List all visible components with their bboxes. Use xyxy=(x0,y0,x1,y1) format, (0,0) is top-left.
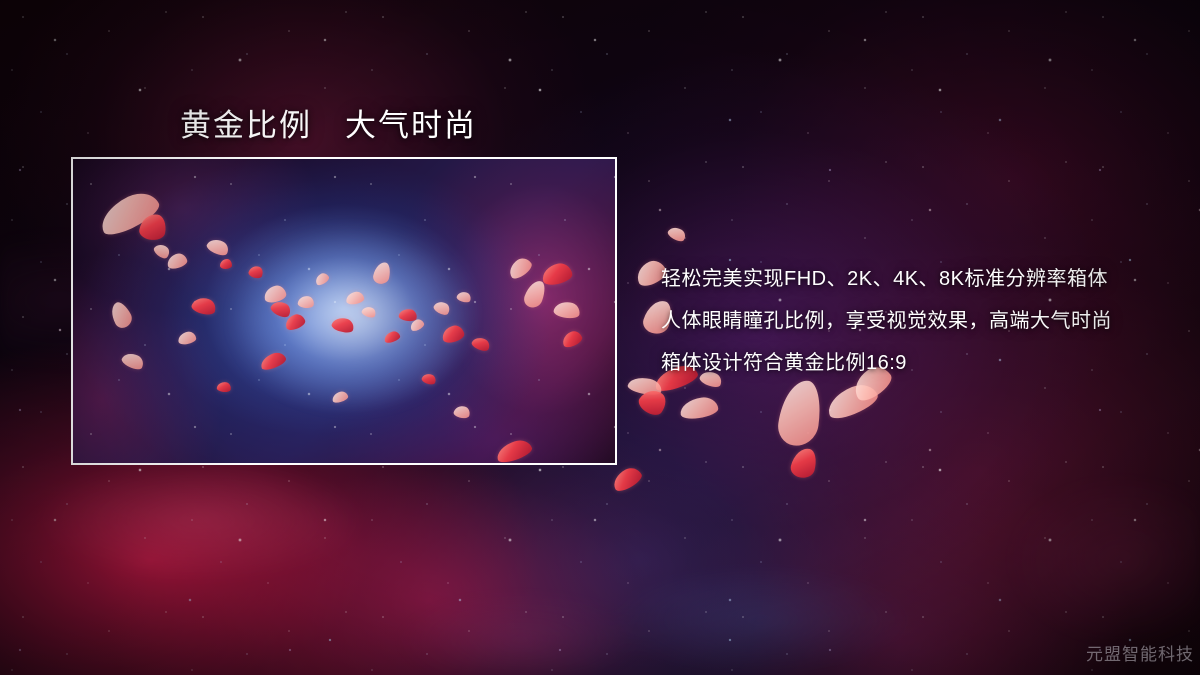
slide-title: 黄金比例 大气时尚 xyxy=(180,100,477,145)
preview-core-glow xyxy=(233,229,473,409)
flower-petal xyxy=(789,446,820,481)
preview-image-frame xyxy=(71,157,617,465)
flower-petal xyxy=(776,378,825,449)
flower-petal xyxy=(610,464,645,494)
flower-petal xyxy=(666,224,688,243)
preview-image xyxy=(73,159,615,463)
feature-description: 轻松完美实现FHD、2K、4K、8K标准分辨率箱体 人体眼睛瞳孔比例，享受视觉效… xyxy=(661,258,1181,384)
feature-line-1: 轻松完美实现FHD、2K、4K、8K标准分辨率箱体 xyxy=(661,258,1181,300)
presentation-slide: 黄金比例 大气时尚 轻松完美实现FHD、2K、4K、8K标准分辨率箱体 人体眼睛… xyxy=(0,0,1200,675)
flower-petal xyxy=(220,259,232,269)
feature-line-3: 箱体设计符合黄金比例16:9 xyxy=(661,342,1181,384)
feature-line-2: 人体眼睛瞳孔比例，享受视觉效果，高端大气时尚 xyxy=(661,300,1181,342)
flower-petal xyxy=(679,395,719,420)
company-watermark: 元盟智能科技 xyxy=(1086,640,1194,665)
